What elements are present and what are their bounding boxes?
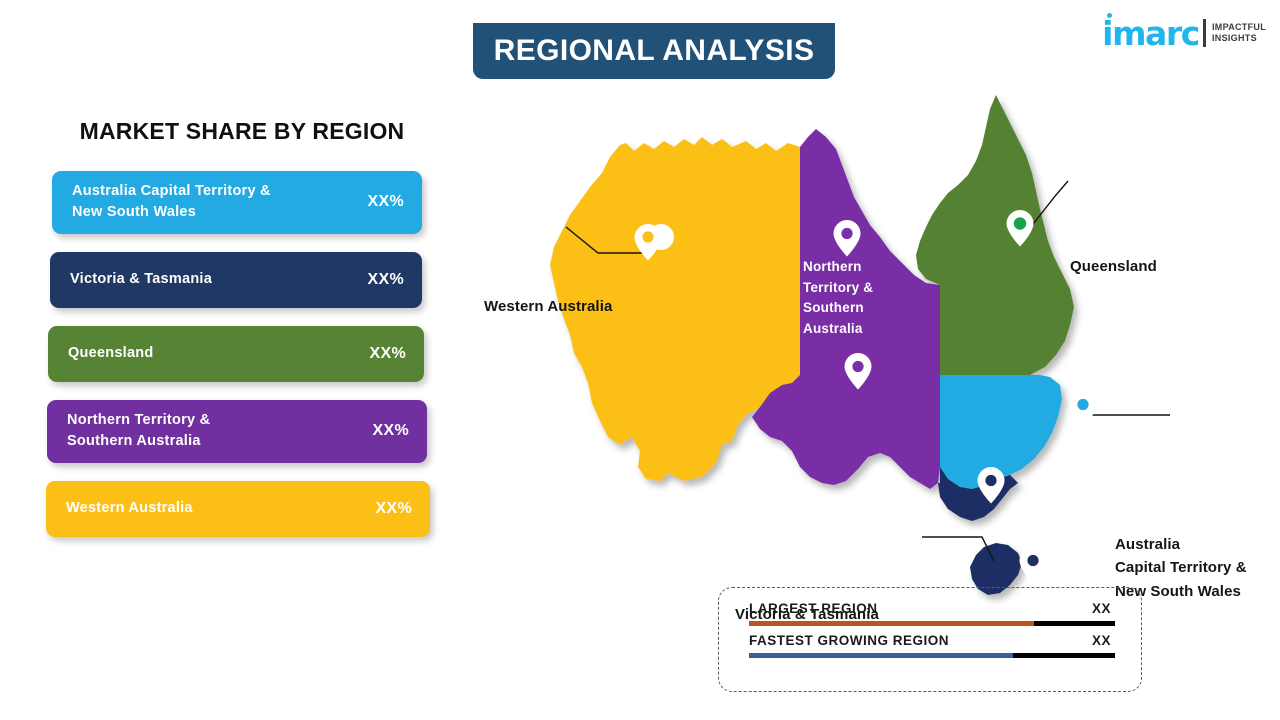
market-share-row-label: Western Australia <box>66 498 193 519</box>
map-pin-tasmania[interactable] <box>1020 547 1047 584</box>
logo-word: imarc <box>1102 18 1199 49</box>
market-share-row-label: Victoria & Tasmania <box>70 269 212 290</box>
region-stat-value: XX <box>1092 601 1111 616</box>
page-title: REGIONAL ANALYSIS <box>494 34 815 68</box>
market-share-list: Australia Capital Territory & New South … <box>46 171 438 537</box>
logo-divider <box>1203 19 1206 47</box>
region-stat-progress-fill <box>749 653 1013 658</box>
market-share-row-value: XX% <box>368 193 404 211</box>
australia-map-svg <box>470 85 1170 605</box>
market-share-row-value: XX% <box>376 500 412 518</box>
region-stat-label: FASTEST GROWING REGION <box>749 633 949 648</box>
region-stat-value: XX <box>1092 633 1111 648</box>
region-stat-label: LARGEST REGION <box>749 601 878 616</box>
australia-map: Northern Territory & Southern Australia … <box>470 85 1280 605</box>
leader-line-act <box>1088 415 1170 457</box>
panel-heading: MARKET SHARE BY REGION <box>46 118 438 145</box>
market-share-row-value: XX% <box>368 271 404 289</box>
map-callout-queensland: Queensland <box>1070 255 1157 278</box>
market-share-row[interactable]: Victoria & TasmaniaXX% <box>50 252 422 308</box>
logo-wordmark: imarc <box>1102 18 1199 49</box>
region-stats-box: LARGEST REGIONXXFASTEST GROWING REGIONXX <box>718 587 1142 692</box>
map-label-northern-territory: Northern Territory & Southern Australia <box>803 257 903 339</box>
market-share-row-value: XX% <box>370 345 406 363</box>
market-share-panel: MARKET SHARE BY REGION Australia Capital… <box>46 118 438 555</box>
region-stat-progress-track <box>749 621 1115 626</box>
market-share-row[interactable]: Northern Territory & Southern AustraliaX… <box>47 400 427 463</box>
map-callout-western-australia: Western Australia <box>484 295 612 318</box>
market-share-row[interactable]: Australia Capital Territory & New South … <box>52 171 422 234</box>
page-title-banner: REGIONAL ANALYSIS <box>473 23 835 79</box>
map-pin-new-south-wales[interactable] <box>1070 391 1097 428</box>
market-share-row-value: XX% <box>373 422 409 440</box>
region-stat-row: LARGEST REGIONXX <box>749 601 1115 626</box>
logo-tagline-line1: IMPACTFUL <box>1212 22 1266 33</box>
region-stat-progress-track <box>749 653 1115 658</box>
logo-tagline-line2: INSIGHTS <box>1212 33 1266 44</box>
imarc-logo: imarc IMPACTFUL INSIGHTS <box>1102 14 1266 54</box>
market-share-row[interactable]: Western AustraliaXX% <box>46 481 430 537</box>
region-stat-progress-fill <box>749 621 1034 626</box>
market-share-row-label: Australia Capital Territory & New South … <box>72 181 271 224</box>
region-stat-row: FASTEST GROWING REGIONXX <box>749 633 1115 658</box>
slide-regional-analysis: REGIONAL ANALYSIS imarc IMPACTFUL INSIGH… <box>0 0 1280 720</box>
market-share-row[interactable]: QueenslandXX% <box>48 326 424 382</box>
market-share-row-label: Queensland <box>68 343 154 364</box>
market-share-row-label: Northern Territory & Southern Australia <box>67 410 210 453</box>
logo-tagline: IMPACTFUL INSIGHTS <box>1212 22 1266 45</box>
